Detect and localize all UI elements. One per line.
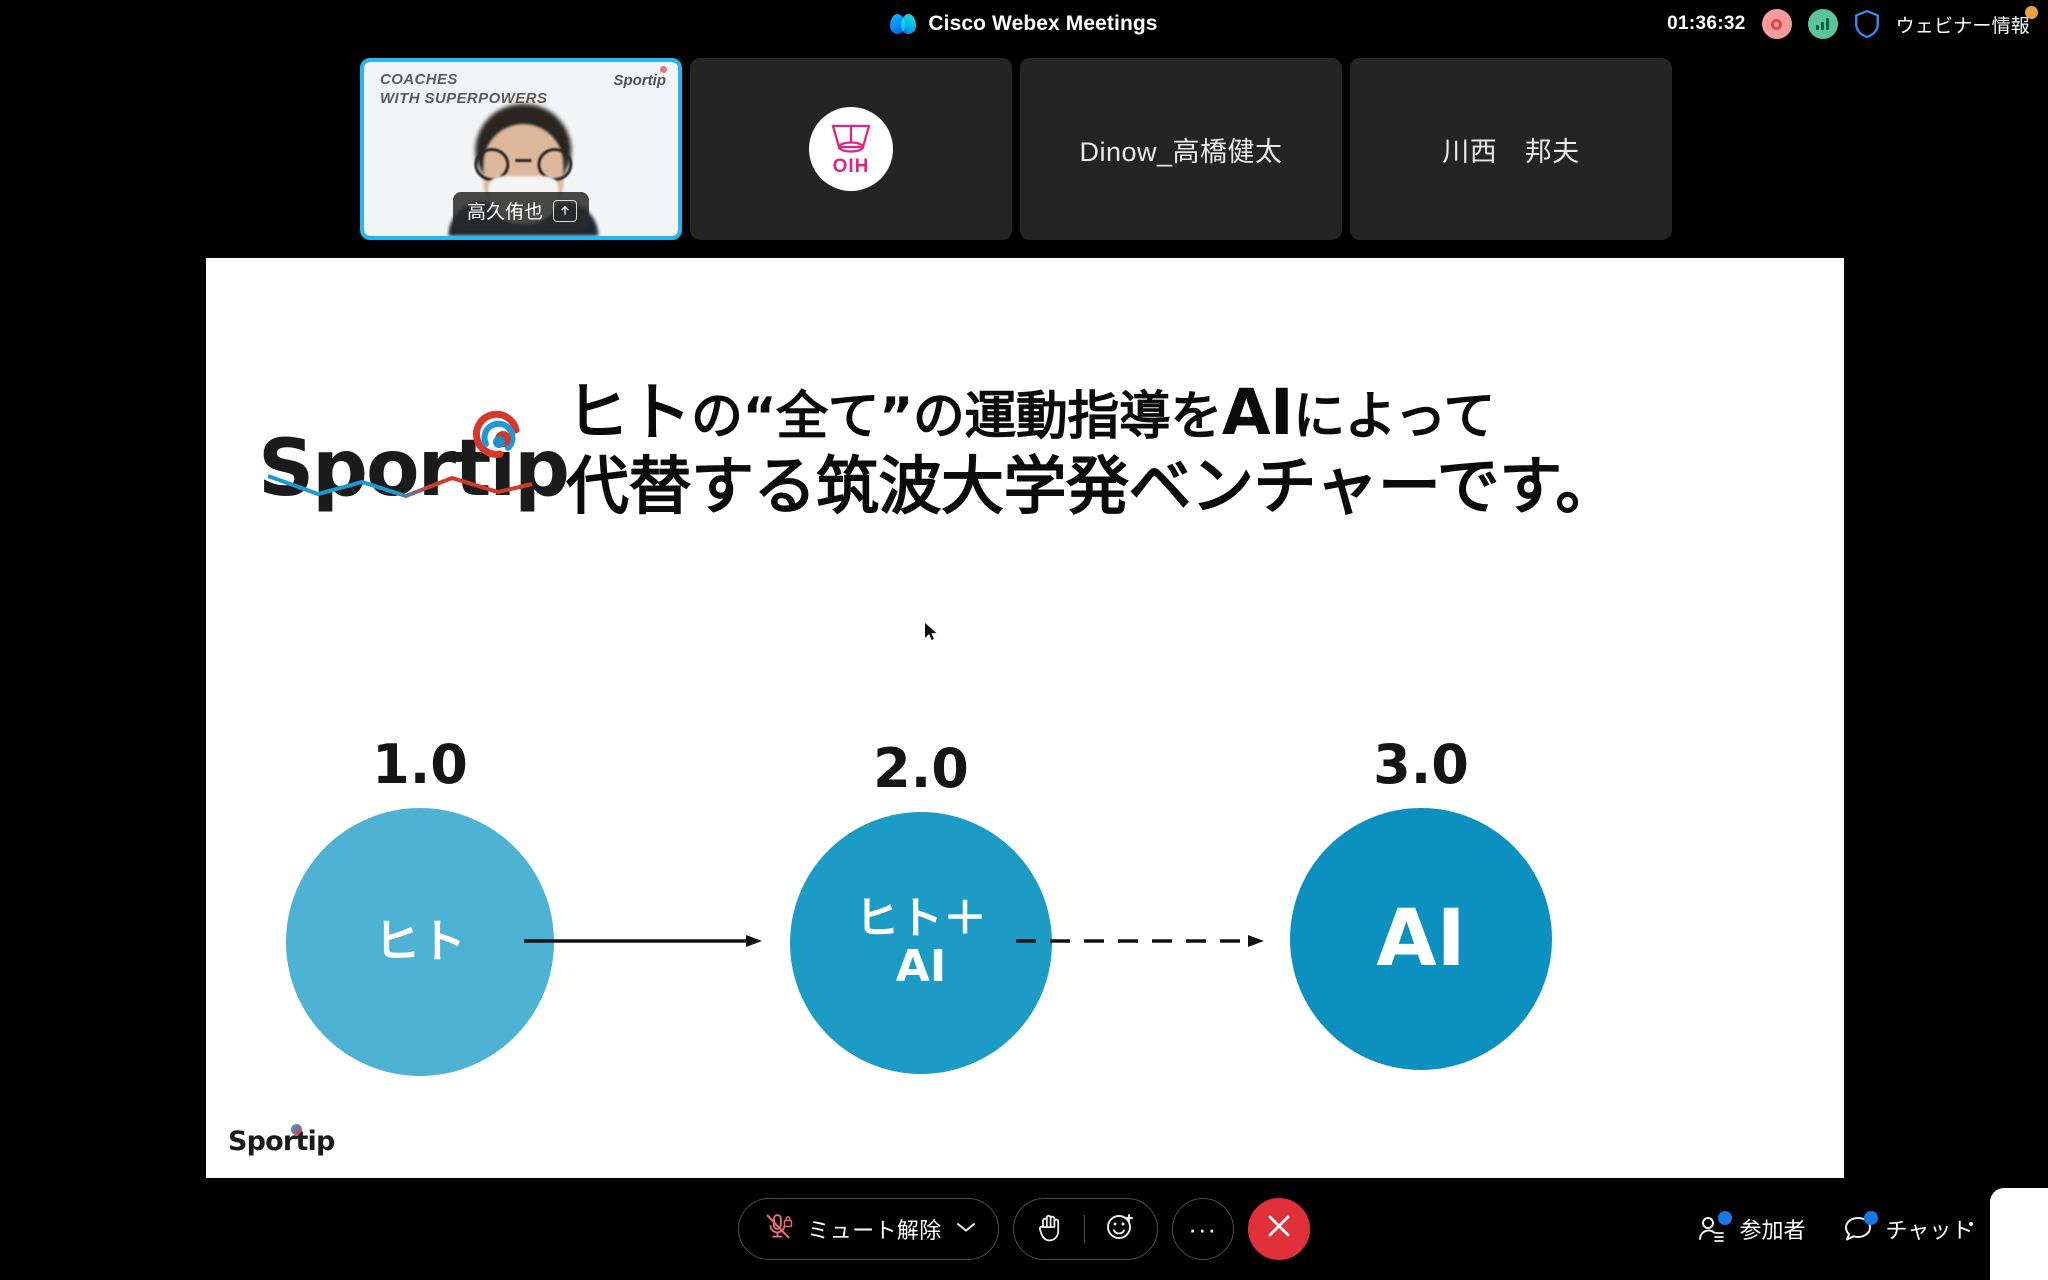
participant-filmstrip: COACHES WITH SUPERPOWERS Sportip 高久侑也 bbox=[360, 58, 1672, 240]
participants-badge bbox=[1718, 1211, 1732, 1225]
participant-tile-dinow[interactable]: Dinow_高橋健太 bbox=[1020, 58, 1342, 240]
webex-meeting-window: Cisco Webex Meetings 01:36:32 ウェビナー情報 bbox=[0, 0, 2048, 1280]
network-quality-icon[interactable] bbox=[1808, 9, 1838, 39]
toolbar-divider bbox=[1084, 1215, 1085, 1243]
video-brand-logo: Sportip bbox=[614, 72, 667, 89]
stage-1-0: 1.0 ヒト bbox=[250, 738, 590, 1076]
stage-2-0: 2.0 ヒト＋ AI bbox=[751, 742, 1091, 1074]
webinar-info-label[interactable]: ウェビナー情報 bbox=[1896, 11, 2030, 38]
participant-tile-kawanishi[interactable]: 川西 邦夫 bbox=[1350, 58, 1672, 240]
chevron-down-icon[interactable] bbox=[956, 1220, 976, 1238]
stage-label: 2.0 bbox=[751, 742, 1091, 796]
dashed-arrow-icon bbox=[1016, 934, 1266, 948]
bubble-line-1: ヒト＋ bbox=[855, 893, 987, 944]
top-bar-right: 01:36:32 ウェビナー情報 bbox=[1667, 0, 2030, 48]
sportip-logo: Sportip bbox=[258, 402, 548, 522]
reactions-group[interactable] bbox=[1013, 1198, 1158, 1260]
slide-header: Sportip bbox=[206, 376, 1844, 525]
chat-button[interactable]: チャット bbox=[1842, 1213, 1974, 1245]
sportip-spiral-icon bbox=[470, 408, 526, 464]
participants-button[interactable]: 参加者 bbox=[1696, 1213, 1806, 1245]
reaction-smiley-icon[interactable] bbox=[1105, 1212, 1135, 1247]
participant-tile-speaker[interactable]: COACHES WITH SUPERPOWERS Sportip 高久侑也 bbox=[360, 58, 682, 240]
status-dot bbox=[2025, 6, 2038, 19]
app-title: Cisco Webex Meetings bbox=[928, 12, 1157, 36]
bubble-line-2: AI bbox=[896, 941, 946, 992]
chat-label: チャット bbox=[1886, 1213, 1974, 1245]
chat-bubble-icon bbox=[1842, 1213, 1874, 1245]
headline-part-4: によって bbox=[1293, 387, 1495, 447]
stage-bubble-hito: ヒト bbox=[286, 808, 554, 1076]
speaker-name: 高久侑也 bbox=[467, 197, 543, 224]
avatar: OIH bbox=[809, 107, 893, 191]
chat-badge bbox=[1864, 1211, 1878, 1225]
mouse-cursor bbox=[924, 622, 938, 642]
recording-icon[interactable] bbox=[1762, 9, 1792, 39]
participant-name: 川西 邦夫 bbox=[1350, 58, 1672, 240]
stage-bubble-hito-plus-ai: ヒト＋ AI bbox=[790, 812, 1052, 1074]
headline-part-1: ヒト bbox=[566, 376, 691, 449]
leave-meeting-button[interactable] bbox=[1248, 1198, 1310, 1260]
headline-line-2: 代替する筑波大学発ベンチャーです。 bbox=[566, 450, 1618, 524]
slide-footer-logo: Sportip bbox=[228, 1126, 318, 1160]
participants-label: 参加者 bbox=[1740, 1213, 1806, 1245]
side-panel-edge[interactable] bbox=[1990, 1188, 2048, 1280]
speaker-name-badge: 高久侑也 bbox=[453, 192, 589, 230]
headline-part-3: AI bbox=[1222, 376, 1293, 449]
close-x-icon bbox=[1266, 1213, 1292, 1246]
stage-label: 1.0 bbox=[250, 738, 590, 792]
participant-tile-oih[interactable]: OIH bbox=[690, 58, 1012, 240]
headline-part-2: の“全て”の運動指導を bbox=[691, 387, 1222, 447]
shield-icon bbox=[1854, 10, 1880, 38]
stage-3-0: 3.0 AI bbox=[1251, 738, 1591, 1070]
bottom-toolbar: ミュート解除 bbox=[0, 1178, 2048, 1280]
raise-hand-icon[interactable] bbox=[1036, 1212, 1064, 1247]
microphone-muted-locked-icon bbox=[763, 1214, 793, 1245]
footer-wordmark: Sportip bbox=[228, 1126, 335, 1157]
footer-logo-dot bbox=[291, 1124, 302, 1135]
pin-video-icon[interactable] bbox=[553, 200, 577, 222]
meeting-timer: 01:36:32 bbox=[1667, 13, 1745, 35]
solid-arrow-icon bbox=[524, 934, 764, 948]
stage-label: 3.0 bbox=[1251, 738, 1591, 792]
evolution-diagram: 1.0 ヒト 2.0 ヒト＋ AI bbox=[206, 738, 1844, 1128]
slide-headline: ヒトの“全て”の運動指導をAIによって 代替する筑波大学発ベンチャーです。 bbox=[566, 376, 1618, 525]
stage-bubble-ai: AI bbox=[1290, 808, 1552, 1070]
unmute-label: ミュート解除 bbox=[807, 1213, 941, 1245]
video-slogan: COACHES WITH SUPERPOWERS bbox=[380, 71, 547, 108]
panel-indicator-dot bbox=[1969, 1222, 1973, 1226]
avatar-label: OIH bbox=[833, 157, 870, 176]
shared-slide[interactable]: Sportip bbox=[206, 258, 1844, 1178]
participants-icon bbox=[1696, 1213, 1728, 1245]
oih-logo-icon bbox=[828, 122, 874, 156]
participant-name: Dinow_高橋健太 bbox=[1020, 58, 1342, 240]
more-options-button[interactable]: ··· bbox=[1172, 1198, 1234, 1260]
webex-logo bbox=[890, 13, 916, 35]
unmute-button[interactable]: ミュート解除 bbox=[738, 1198, 998, 1260]
top-bar: Cisco Webex Meetings 01:36:32 ウェビナー情報 bbox=[0, 0, 2048, 48]
